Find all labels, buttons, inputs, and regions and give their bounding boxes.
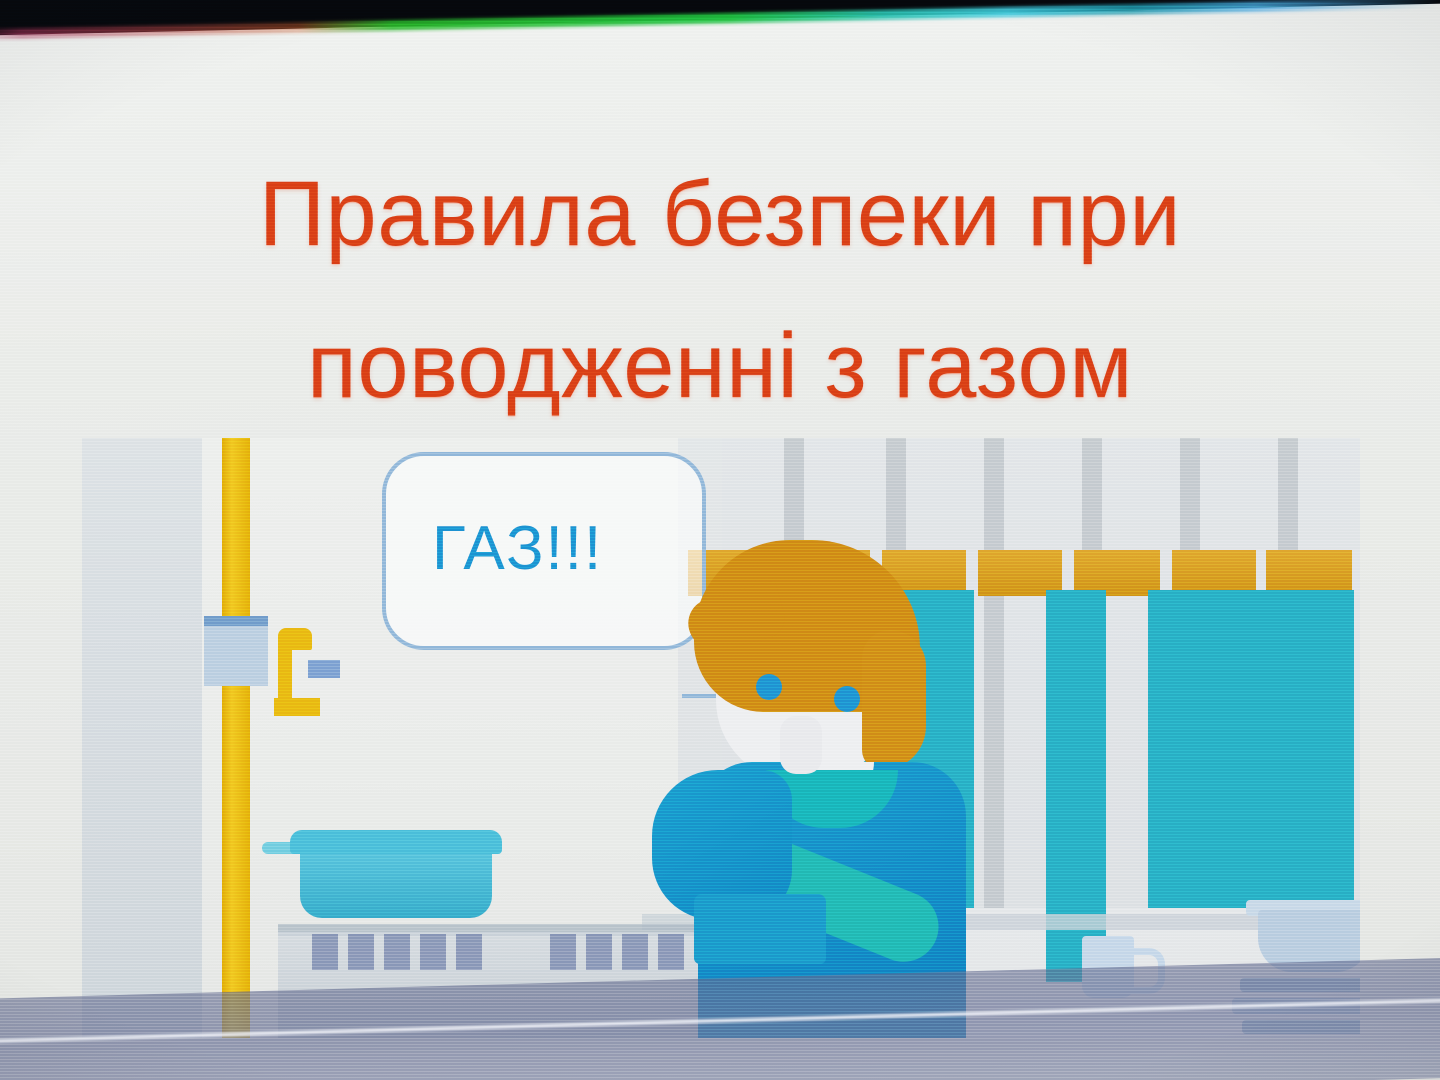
burner-grate-6	[550, 934, 576, 970]
burner-grate-4	[420, 934, 446, 970]
pot-lid	[290, 830, 502, 854]
boy-hand-at-nose	[780, 716, 822, 774]
boy-forearm	[694, 894, 826, 964]
kitchen-illustration: ГАЗ!!!	[82, 438, 1360, 1038]
boy-eye-right	[834, 686, 860, 712]
speech-bubble-text: ГАЗ!!!	[432, 518, 603, 580]
burner-grate-2	[348, 934, 374, 970]
cooking-pot	[300, 846, 492, 918]
boy-hair-side	[862, 630, 926, 770]
valve-handle-bottom	[274, 698, 320, 716]
burner-grate-7	[586, 934, 612, 970]
gas-meter-box	[204, 626, 268, 686]
boy-character	[638, 534, 998, 1038]
burner-grate-5	[456, 934, 482, 970]
slide-title-line-2: поводженні з газом	[0, 320, 1440, 412]
valve-handle-knob	[308, 660, 340, 678]
presentation-slide: Правила безпеки при поводженні з газом	[0, 0, 1440, 1080]
gas-pipe	[222, 438, 250, 1038]
burner-grate-3	[384, 934, 410, 970]
curtain-panel-3	[1148, 590, 1354, 908]
burner-grate-1	[312, 934, 338, 970]
boy-eye-left	[756, 674, 782, 700]
photographed-screen: Правила безпеки при поводженні з газом	[0, 0, 1440, 1080]
slide-title-line-1: Правила безпеки при	[0, 168, 1440, 260]
left-wall-panel	[82, 438, 202, 1038]
